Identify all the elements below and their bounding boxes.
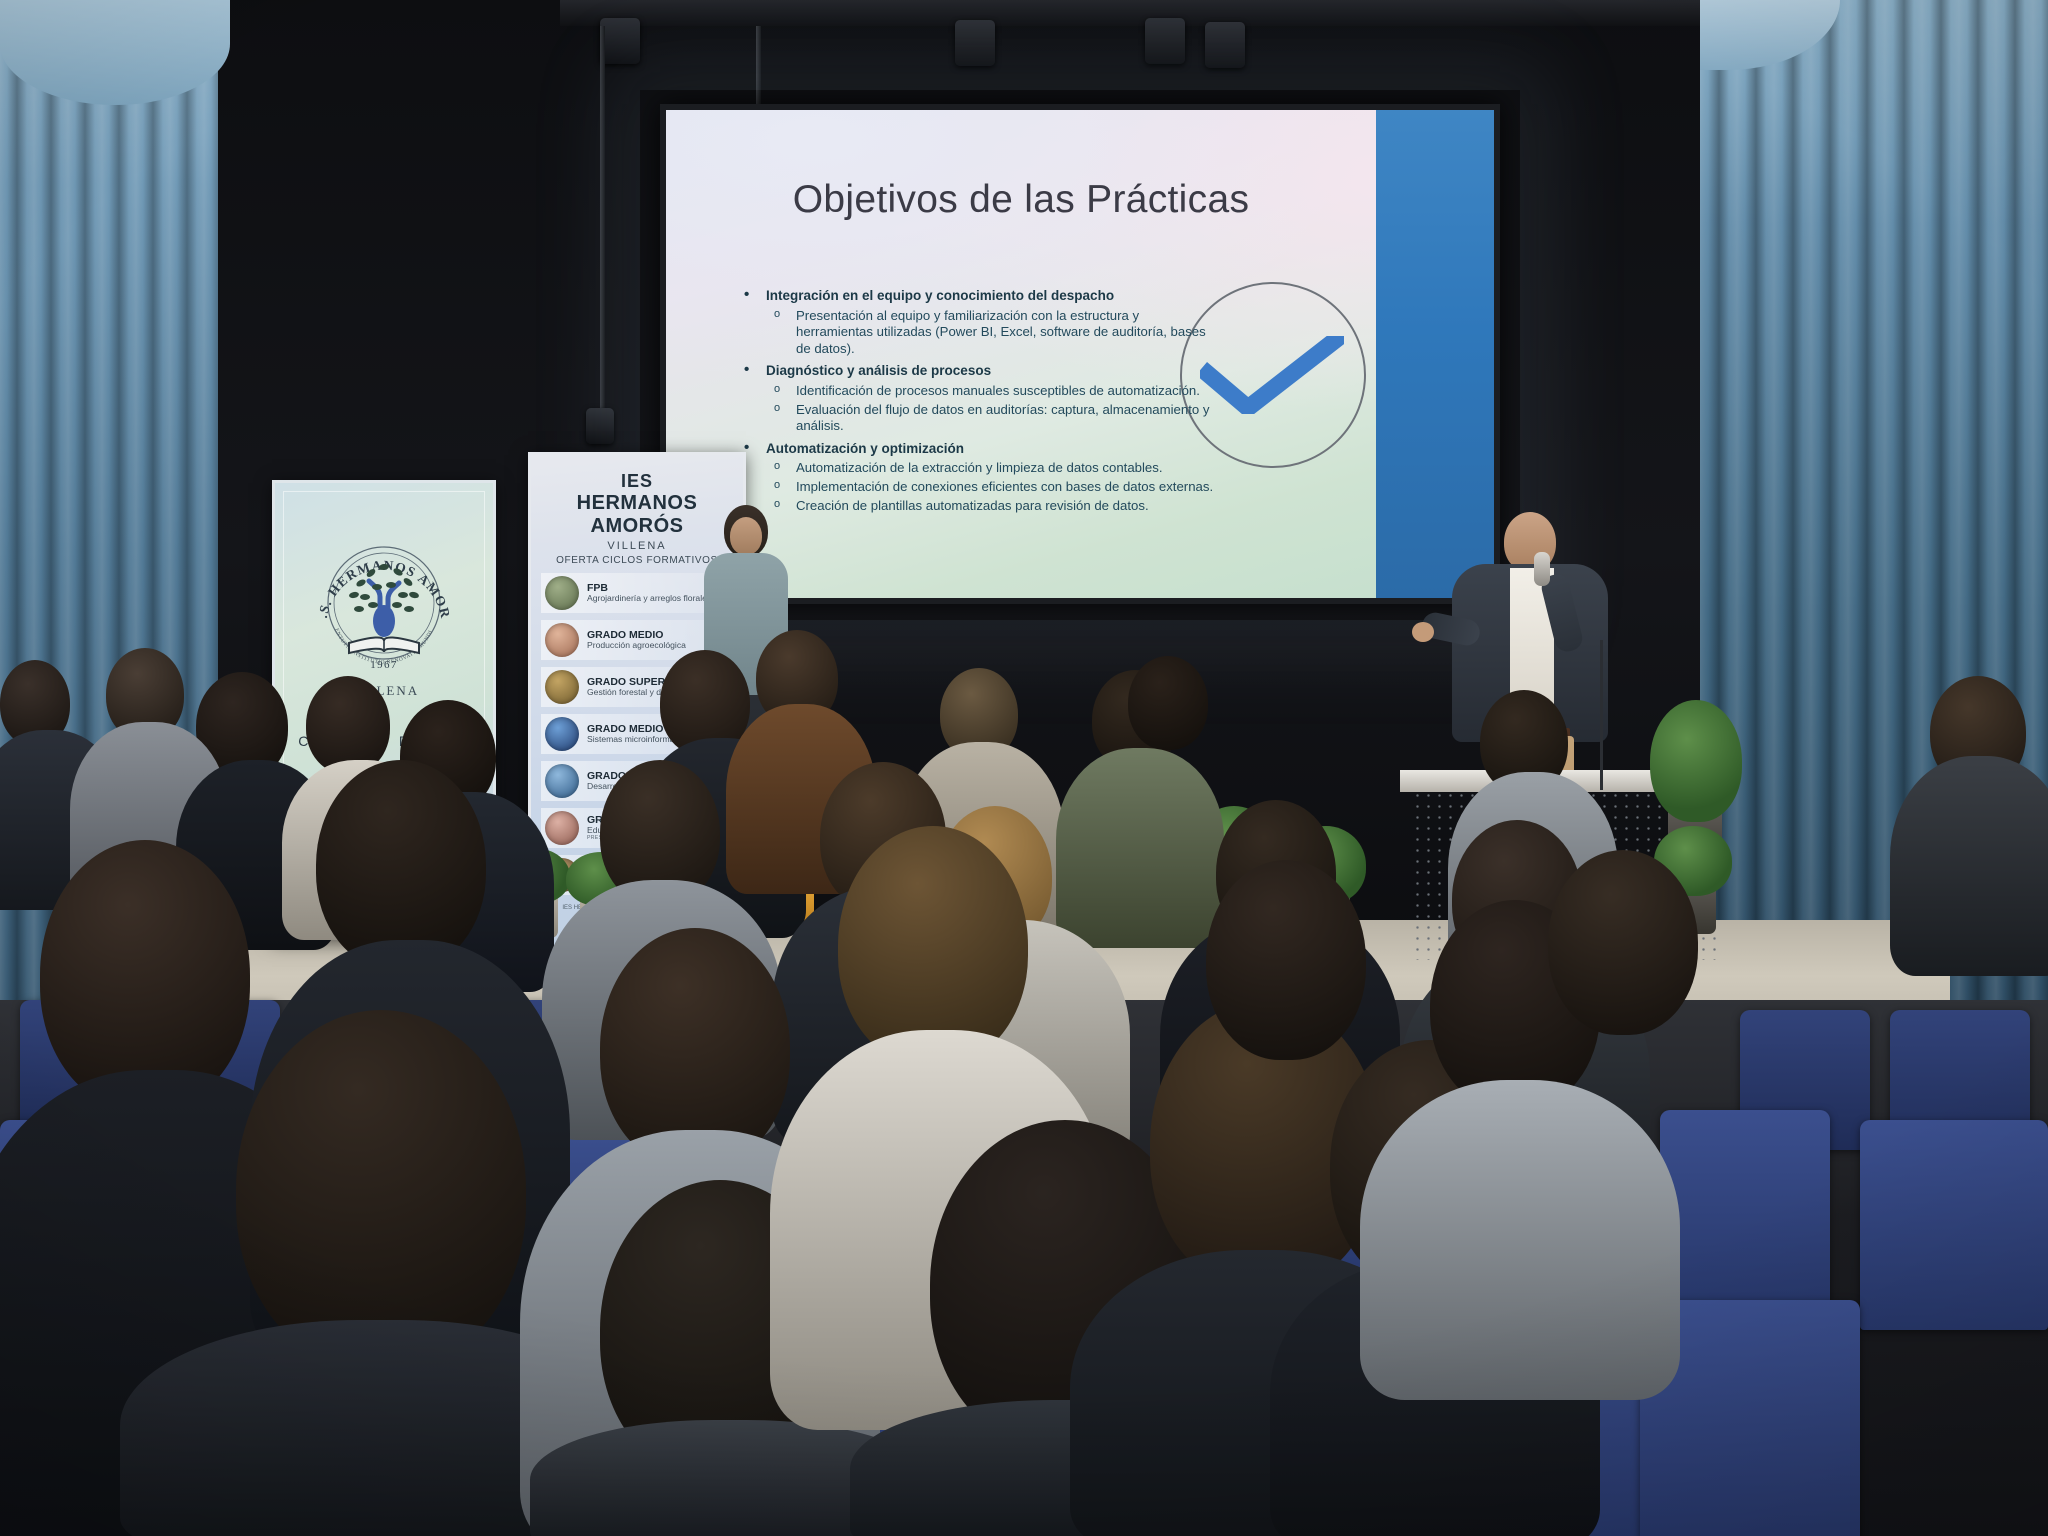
plant-foliage [1650, 700, 1742, 822]
stage-light-1 [600, 18, 640, 64]
course-icon [545, 811, 579, 845]
audience-head [1548, 850, 1698, 1035]
course-icon [545, 670, 579, 704]
banner-city: VILLENA [275, 683, 493, 699]
bullet-sub: Evaluación del flujo de datos en auditor… [796, 402, 1214, 435]
hanging-rod [600, 26, 605, 416]
audience-shoulders [1360, 1080, 1680, 1400]
stage-light-3 [1145, 18, 1185, 64]
auditorium-scene: Objetivos de las Prácticas Integración e… [0, 0, 2048, 1536]
course-name: Producción agroecológica [587, 641, 686, 650]
auditorium-seat [1660, 1110, 1830, 1310]
face [730, 517, 762, 555]
bullet-sub: Automatización de la extracción y limpie… [796, 460, 1214, 477]
svg-text:1967: 1967 [370, 659, 398, 671]
mic-stand [1600, 640, 1603, 790]
stage-light-4 [1205, 22, 1245, 68]
slide-title: Objetivos de las Prácticas [666, 178, 1376, 222]
audience-head [316, 760, 486, 970]
curtain-valance-left [0, 0, 230, 105]
screen-drop-cable [756, 26, 761, 116]
audience-shoulders [1056, 748, 1224, 948]
audience-head [236, 1010, 526, 1370]
course-icon [545, 764, 579, 798]
stage-light-2 [955, 20, 995, 66]
course-icon [545, 717, 579, 751]
course-icon [545, 576, 579, 610]
bullet-sub: Implementación de conexiones eficientes … [796, 479, 1214, 496]
hand-left [1412, 622, 1434, 642]
bullet-sub: Creación de plantillas automatizadas par… [796, 498, 1214, 515]
slide-bullet-list: Integración en el equipo y conocimiento … [744, 286, 1214, 514]
curtain-valance-right [1700, 0, 1840, 70]
school-seal-icon: I.E.S. HERMANOS AMORÓS JUVENTUTIS INSTIT… [309, 525, 459, 675]
bullet-primary: Automatización y optimización [766, 439, 1214, 459]
audience-head [1128, 656, 1208, 750]
bullet-primary: Integración en el equipo y conocimiento … [766, 286, 1214, 306]
check-mark-icon [1200, 336, 1344, 414]
bullet-sub: Identificación de procesos manuales susc… [796, 383, 1214, 400]
audience-head [1206, 860, 1366, 1060]
bullet-sub: Presentación al equipo y familiarización… [796, 308, 1214, 358]
microphone-icon [1534, 552, 1550, 586]
course-icon [545, 623, 579, 657]
auditorium-seat [1860, 1120, 2048, 1330]
hanging-fixture [586, 408, 614, 444]
banner-title: IES [531, 471, 743, 492]
audience-shoulders [1890, 756, 2048, 976]
bullet-primary: Diagnóstico y análisis de procesos [766, 361, 1214, 381]
